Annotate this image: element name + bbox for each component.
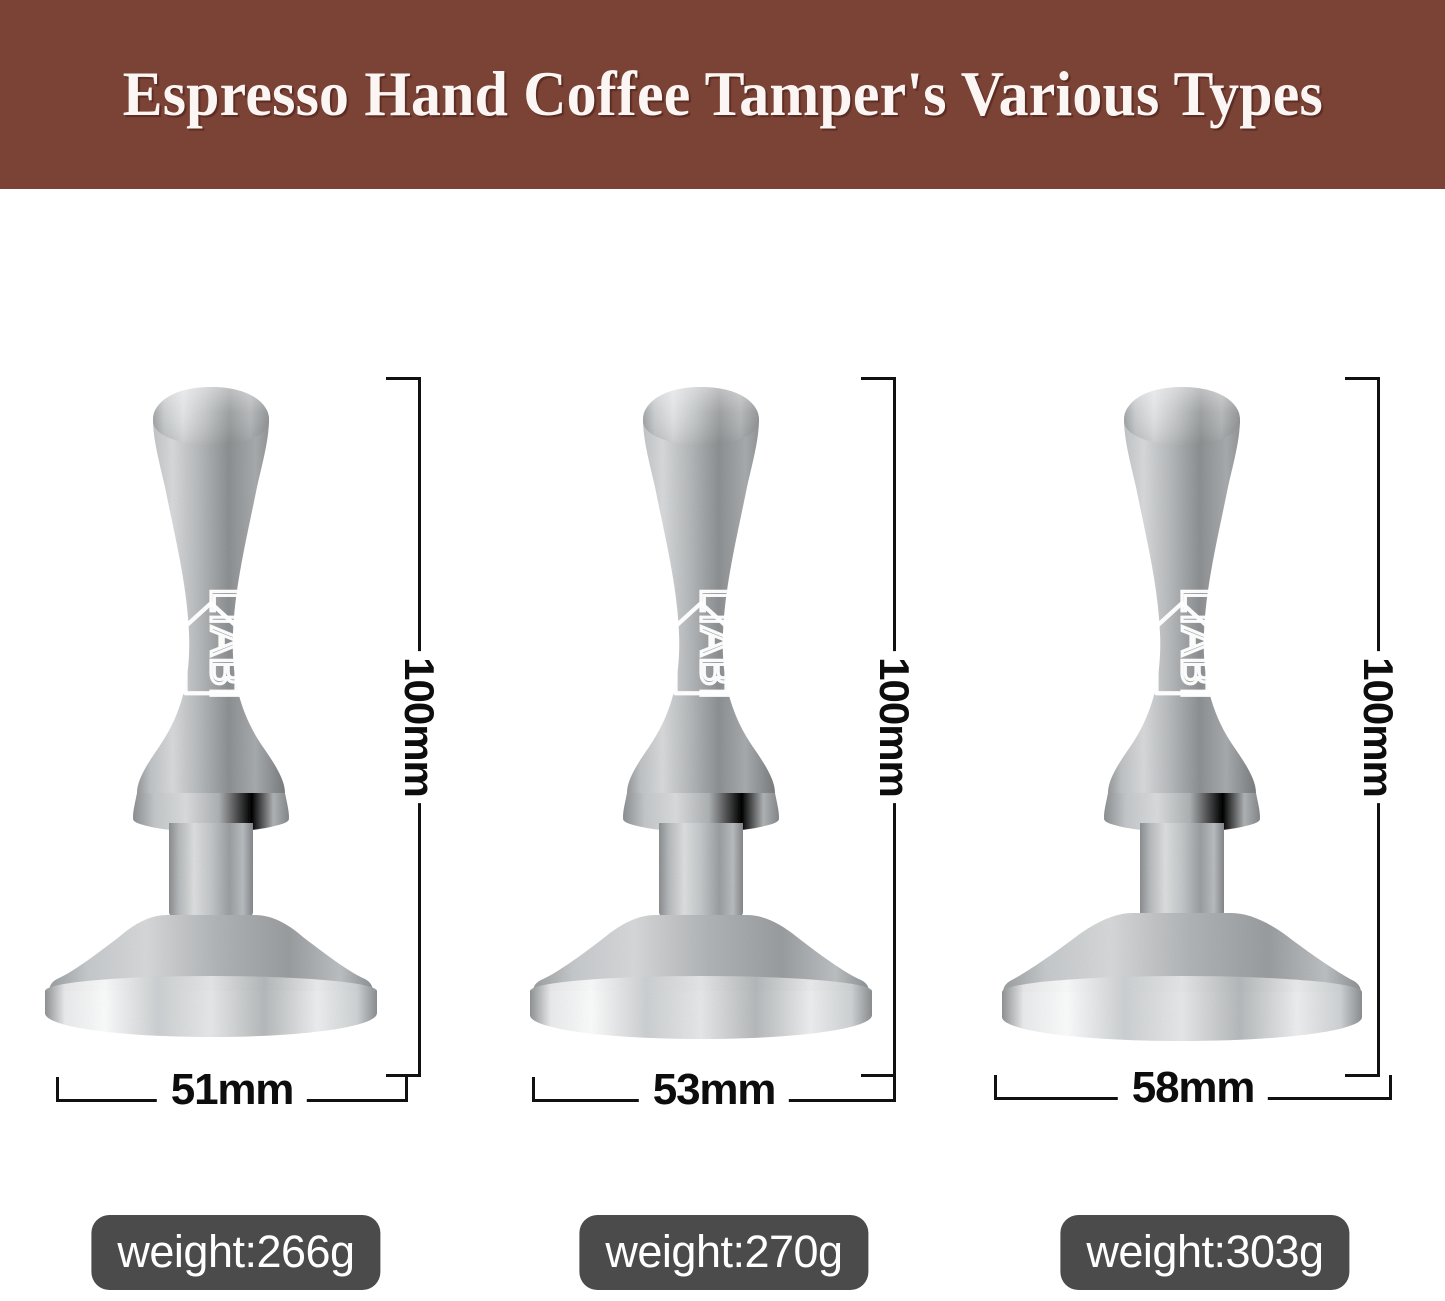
weight-badge-51mm: weight:266g: [91, 1215, 380, 1290]
weight-badge-58mm: weight:303g: [1060, 1215, 1349, 1290]
width-dimension-53mm: 53mm: [532, 1059, 896, 1115]
width-dimension-label: 51mm: [157, 1067, 307, 1113]
height-dimension-58mm: 100mm: [1341, 377, 1415, 1077]
width-dimension-cap-right: [405, 1077, 408, 1102]
weight-badge-label: weight:270g: [605, 1226, 842, 1277]
tamper-image-51mm: LIABI: [31, 379, 391, 1069]
width-dimension-cap-right: [1389, 1075, 1392, 1100]
product-card-51mm: LIABI 100mm 51mm weight:266g: [0, 189, 482, 1301]
product-infographic-page: Espresso Hand Coffee Tamper's Various Ty…: [0, 0, 1445, 1301]
weight-badge-label: weight:303g: [1086, 1226, 1323, 1277]
tamper-image-58mm: LIABI: [1002, 379, 1362, 1069]
width-dimension-cap-left: [994, 1075, 997, 1100]
product-card-58mm: LIABI 100mm 58mm weight:303g: [963, 189, 1445, 1301]
tamper-image-53mm: LIABI: [521, 379, 881, 1069]
width-dimension-51mm: 51mm: [56, 1059, 408, 1115]
height-dimension-label: 100mm: [868, 651, 920, 803]
height-dimension-label: 100mm: [1352, 651, 1404, 803]
width-dimension-cap-left: [56, 1077, 59, 1102]
product-comparison-row: LIABI 100mm 51mm weight:266g: [0, 189, 1445, 1301]
liabi-logo-text-58mm: LIABI: [1172, 588, 1221, 701]
height-dimension-cap-top: [386, 377, 421, 380]
width-dimension-58mm: 58mm: [994, 1057, 1392, 1113]
height-dimension-53mm: 100mm: [857, 377, 931, 1077]
height-dimension-label: 100mm: [393, 651, 445, 803]
width-dimension-label: 58mm: [1118, 1065, 1268, 1111]
height-dimension-cap-top: [1345, 377, 1380, 380]
width-dimension-label: 53mm: [639, 1067, 789, 1113]
weight-badge-label: weight:266g: [117, 1226, 354, 1277]
header-banner: Espresso Hand Coffee Tamper's Various Ty…: [0, 0, 1445, 189]
height-dimension-51mm: 100mm: [382, 377, 456, 1077]
product-card-53mm: LIABI 100mm 53mm weight:270g: [482, 189, 964, 1301]
width-dimension-cap-left: [532, 1077, 535, 1102]
liabi-logo-text-53mm: LIABI: [691, 588, 740, 701]
liabi-logo-text-51mm: LIABI: [201, 588, 250, 701]
page-title: Espresso Hand Coffee Tamper's Various Ty…: [122, 58, 1322, 131]
width-dimension-cap-right: [893, 1077, 896, 1102]
weight-badge-53mm: weight:270g: [579, 1215, 868, 1290]
height-dimension-cap-top: [861, 377, 896, 380]
